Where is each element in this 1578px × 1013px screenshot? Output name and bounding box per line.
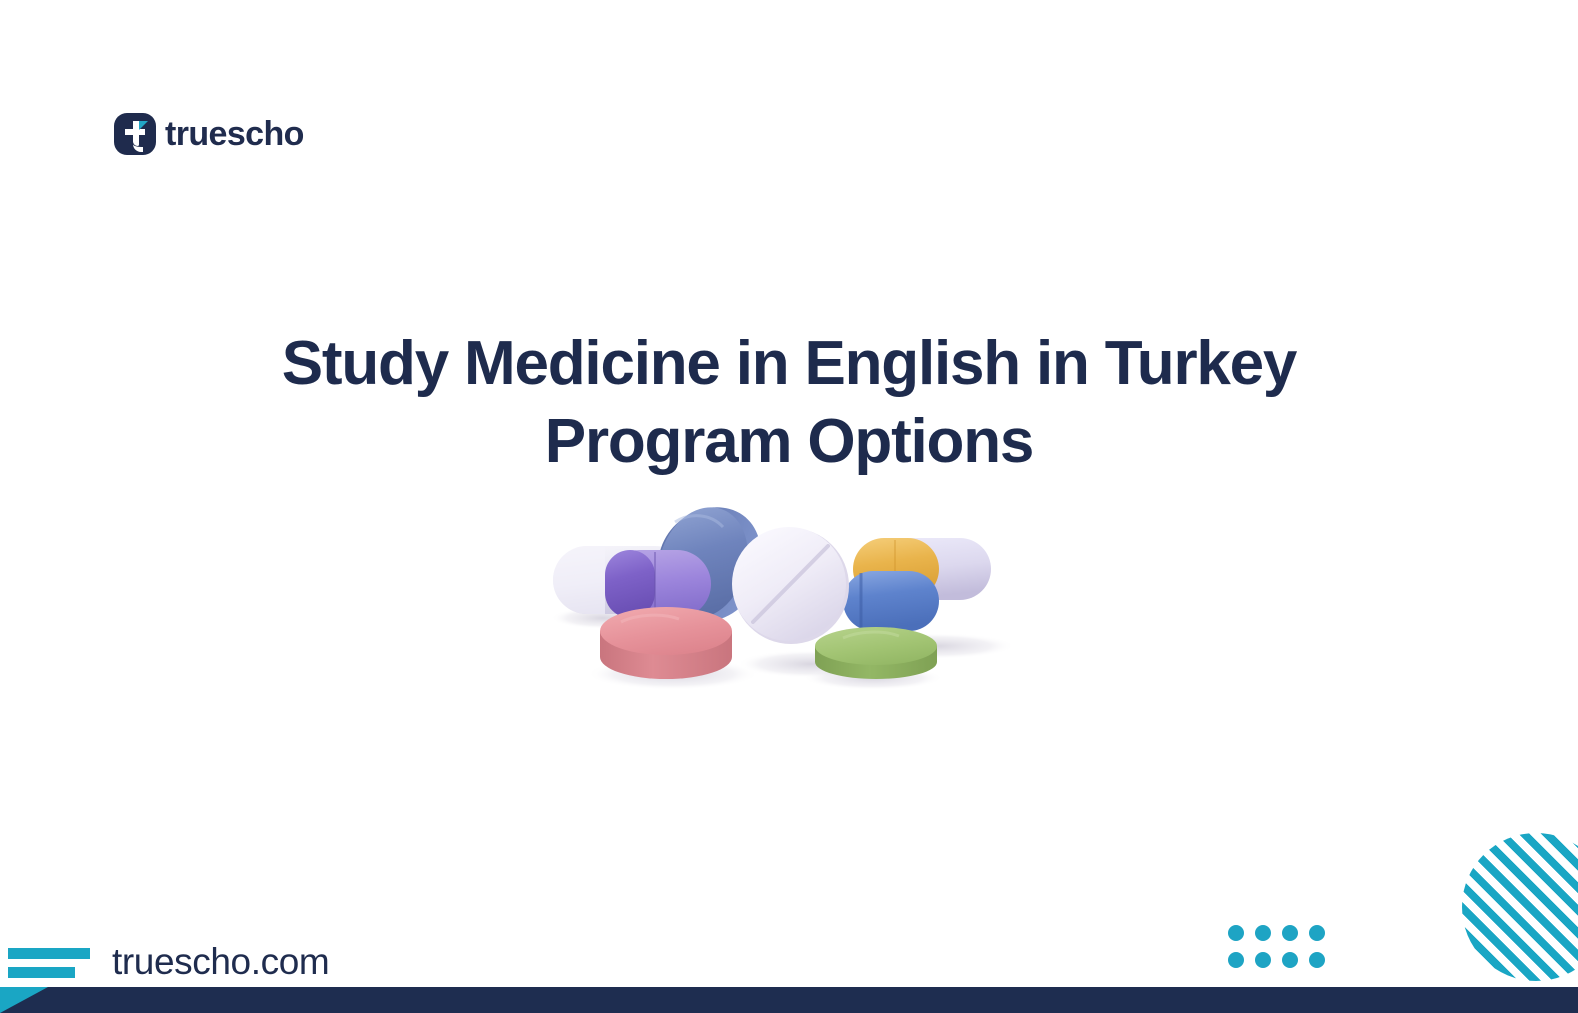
grid-dot (1255, 925, 1271, 941)
grid-dot (1228, 925, 1244, 941)
grid-dot (1309, 925, 1325, 941)
footer-url-group[interactable]: truescho.com (8, 943, 329, 980)
page-title: Study Medicine in English in Turkey Prog… (169, 325, 1409, 481)
brand-logo[interactable]: truescho (114, 113, 304, 155)
cyan-bar-bottom (8, 967, 75, 978)
striped-circle-icon (1462, 833, 1578, 981)
grid-dot (1282, 952, 1298, 968)
dot-grid-icon (1228, 925, 1325, 968)
cyan-bar-top (8, 948, 90, 959)
grid-dot (1255, 952, 1271, 968)
corner-wedge-icon (0, 987, 48, 1013)
cyan-bars-icon (8, 946, 90, 978)
brand-wordmark: truescho (165, 117, 304, 151)
grid-dot (1309, 952, 1325, 968)
grid-dot (1228, 952, 1244, 968)
footer-accent-bar (0, 987, 1578, 1013)
truescho-logo-icon (114, 113, 156, 155)
slide-canvas: truescho Study Medicine in English in Tu… (0, 0, 1578, 1013)
footer-website-url[interactable]: truescho.com (112, 943, 329, 980)
logo-t-tail (133, 142, 143, 152)
logo-cyan-accent-icon (139, 121, 148, 130)
grid-dot (1282, 925, 1298, 941)
assorted-pills-illustration (543, 488, 1033, 703)
